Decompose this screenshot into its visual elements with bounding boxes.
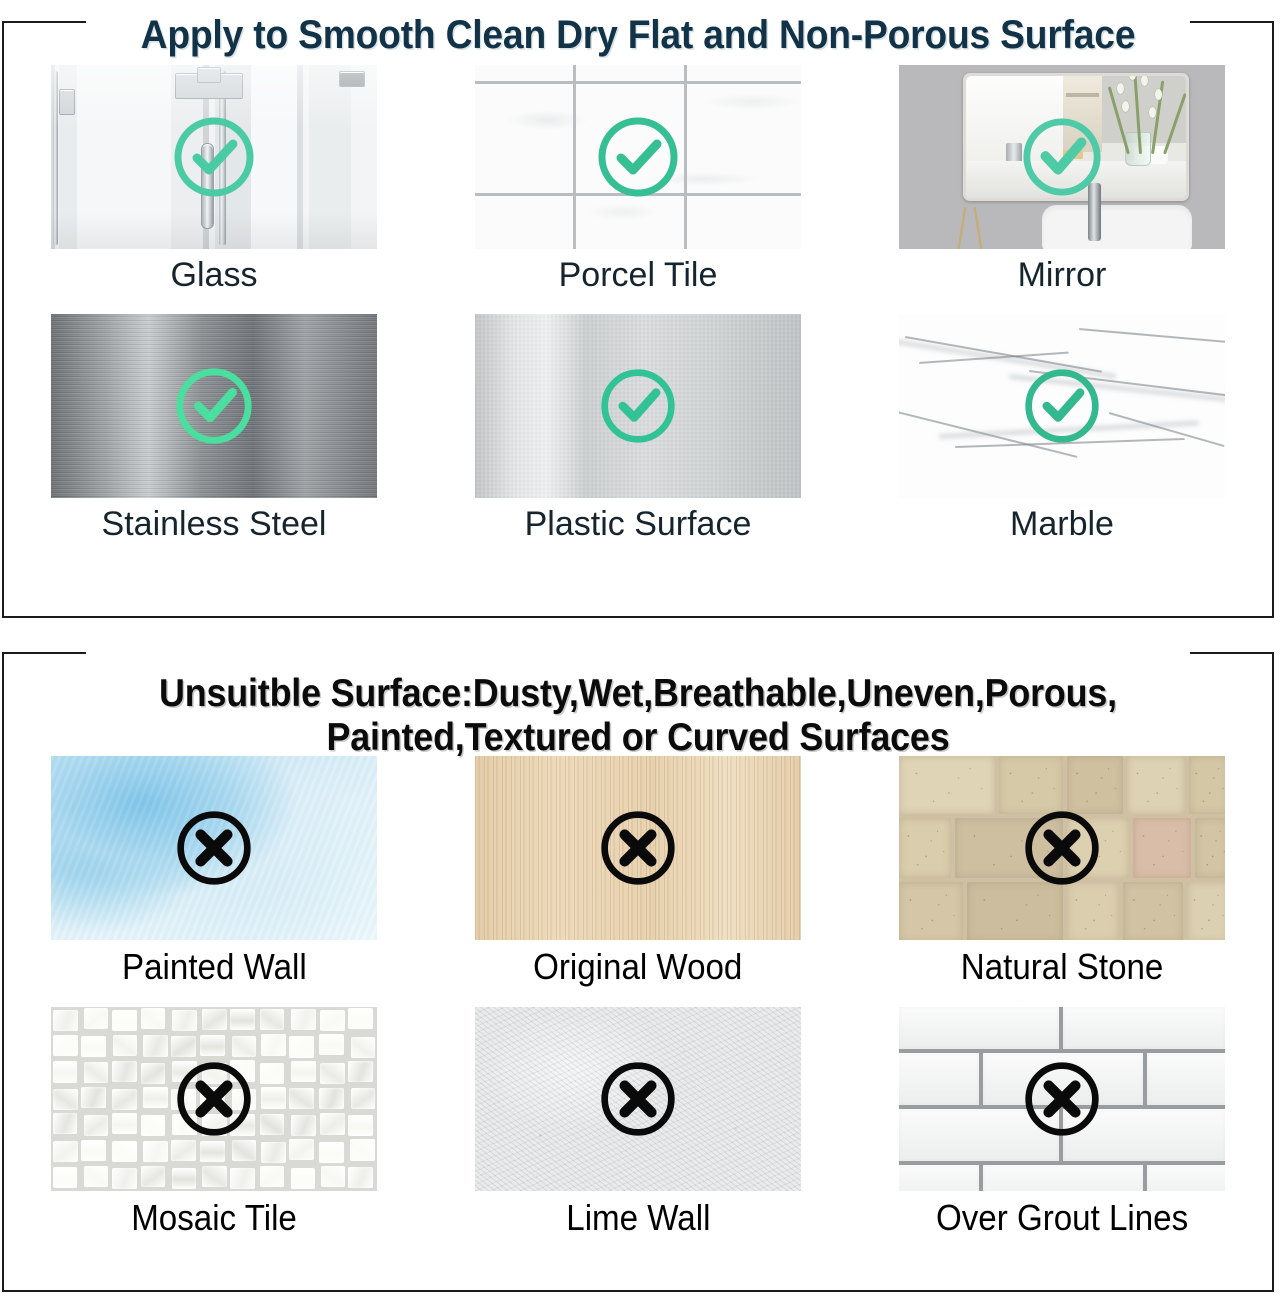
mosaic-tile-piece bbox=[81, 1036, 106, 1057]
mosaic-tile-piece bbox=[261, 1034, 286, 1055]
mosaic-tile-piece bbox=[319, 1034, 344, 1055]
surface-image-porcel-tile bbox=[475, 65, 801, 249]
mosaic-tile-piece bbox=[113, 1035, 138, 1056]
mosaic-tile-piece bbox=[202, 1009, 227, 1030]
surface-label-porcel-tile: Porcel Tile bbox=[559, 258, 718, 292]
mosaic-tile-piece bbox=[230, 1009, 255, 1030]
surface-cell-mosaic: Mosaic Tile bbox=[2, 1007, 426, 1236]
mosaic-tile-piece bbox=[53, 1141, 78, 1162]
surface-cell-marble: Marble bbox=[850, 314, 1274, 541]
mosaic-tile-piece bbox=[112, 1168, 137, 1189]
surface-cell-plastic: Plastic Surface bbox=[426, 314, 850, 541]
suitable-surfaces-panel: Apply to Smooth Clean Dry Flat and Non-P… bbox=[2, 21, 1274, 618]
surface-cell-porcel-tile: Porcel Tile bbox=[426, 65, 850, 292]
mosaic-tile-piece bbox=[232, 1036, 257, 1057]
unsuitable-surfaces-panel: Unsuitble Surface:Dusty,Wet,Breathable,U… bbox=[2, 652, 1274, 1292]
suitable-surfaces-grid: Glass Porcel Tile bbox=[2, 65, 1274, 541]
mosaic-tile-piece bbox=[143, 1087, 168, 1108]
mosaic-tile-piece bbox=[261, 1142, 286, 1163]
mosaic-tile-piece bbox=[348, 1115, 373, 1136]
surface-label-wood: Original Wood bbox=[533, 949, 742, 985]
unsuitable-panel-title: Unsuitble Surface:Dusty,Wet,Breathable,U… bbox=[53, 674, 1223, 758]
mosaic-tile-piece bbox=[200, 1141, 225, 1162]
x-circle-icon bbox=[598, 1059, 678, 1139]
mosaic-tile-piece bbox=[320, 1063, 345, 1084]
mosaic-tile-piece bbox=[84, 1008, 109, 1029]
mosaic-tile-piece bbox=[112, 1061, 137, 1082]
surface-label-painted-wall: Painted Wall bbox=[122, 949, 307, 985]
mosaic-tile-piece bbox=[112, 1141, 137, 1162]
mosaic-tile-piece bbox=[53, 1089, 78, 1110]
mosaic-tile-piece bbox=[171, 1140, 196, 1161]
mosaic-tile-piece bbox=[141, 1166, 166, 1187]
mosaic-tile-piece bbox=[291, 1115, 316, 1136]
surface-label-stainless-steel: Stainless Steel bbox=[102, 507, 327, 541]
x-circle-icon bbox=[174, 1059, 254, 1139]
mosaic-tile-piece bbox=[321, 1166, 346, 1187]
surface-label-marble: Marble bbox=[1010, 507, 1114, 541]
mosaic-tile-piece bbox=[289, 1139, 314, 1160]
mosaic-tile-piece bbox=[143, 1141, 168, 1162]
x-circle-icon bbox=[174, 808, 254, 888]
mosaic-tile-piece bbox=[348, 1008, 373, 1029]
mosaic-tile-piece bbox=[319, 1088, 344, 1109]
check-circle-icon bbox=[1021, 116, 1103, 198]
check-circle-icon bbox=[173, 365, 255, 447]
mosaic-tile-piece bbox=[53, 1113, 78, 1134]
surface-cell-painted-wall: Painted Wall bbox=[2, 756, 426, 985]
mosaic-tile-piece bbox=[260, 1166, 285, 1187]
surface-image-painted-wall bbox=[51, 756, 377, 940]
mosaic-tile-piece bbox=[232, 1140, 257, 1161]
mosaic-tile-piece bbox=[84, 1115, 109, 1136]
check-circle-icon bbox=[596, 115, 680, 199]
mosaic-tile-piece bbox=[143, 1035, 168, 1056]
surface-label-subway-tile: Over Grout Lines bbox=[936, 1200, 1188, 1236]
surface-cell-natural-stone: Natural Stone bbox=[850, 756, 1274, 985]
unsuitable-title-line-2: Painted,Textured or Curved Surfaces bbox=[53, 718, 1223, 758]
mosaic-tile-piece bbox=[320, 1010, 345, 1031]
mosaic-tile-piece bbox=[53, 1010, 78, 1031]
surface-cell-subway-tile: Over Grout Lines bbox=[850, 1007, 1274, 1236]
suitable-panel-title: Apply to Smooth Clean Dry Flat and Non-P… bbox=[47, 15, 1230, 56]
surface-image-lime-wall bbox=[475, 1007, 801, 1191]
surface-image-glass bbox=[51, 65, 377, 249]
mosaic-tile-piece bbox=[320, 1113, 345, 1134]
mosaic-tile-piece bbox=[260, 1063, 285, 1084]
surface-label-mosaic: Mosaic Tile bbox=[131, 1200, 297, 1236]
surface-label-glass: Glass bbox=[171, 258, 258, 292]
mosaic-tile-piece bbox=[291, 1061, 316, 1082]
mosaic-tile-piece bbox=[260, 1114, 285, 1135]
surface-cell-stainless-steel: Stainless Steel bbox=[2, 314, 426, 541]
mosaic-tile-piece bbox=[200, 1035, 225, 1056]
mosaic-tile-piece bbox=[171, 1036, 196, 1057]
mosaic-tile-piece bbox=[348, 1167, 373, 1188]
surface-image-subway-tile bbox=[899, 1007, 1225, 1191]
mosaic-tile-piece bbox=[172, 1168, 197, 1189]
surface-image-plastic bbox=[475, 314, 801, 498]
mosaic-tile-piece bbox=[112, 1113, 137, 1134]
mosaic-tile-piece bbox=[289, 1088, 314, 1109]
mosaic-tile-piece bbox=[84, 1166, 109, 1187]
x-circle-icon bbox=[1022, 1059, 1102, 1139]
mosaic-tile-piece bbox=[172, 1010, 197, 1031]
surface-image-marble bbox=[899, 314, 1225, 498]
mosaic-tile-piece bbox=[81, 1140, 106, 1161]
surface-cell-glass: Glass bbox=[2, 65, 426, 292]
mosaic-tile-piece bbox=[141, 1115, 166, 1136]
mosaic-tile-piece bbox=[81, 1087, 106, 1108]
mosaic-tile-piece bbox=[53, 1061, 78, 1082]
unsuitable-title-border-gap bbox=[86, 648, 1190, 657]
mosaic-tile-piece bbox=[84, 1062, 109, 1083]
infographic-page: Apply to Smooth Clean Dry Flat and Non-P… bbox=[0, 0, 1280, 1304]
surface-label-plastic: Plastic Surface bbox=[525, 507, 752, 541]
mosaic-tile-piece bbox=[351, 1037, 376, 1058]
mosaic-tile-piece bbox=[348, 1061, 373, 1082]
surface-label-mirror: Mirror bbox=[1018, 258, 1107, 292]
unsuitable-title-line-1: Unsuitble Surface:Dusty,Wet,Breathable,U… bbox=[159, 672, 1117, 715]
check-circle-icon bbox=[1022, 366, 1102, 446]
mosaic-tile-piece bbox=[141, 1063, 166, 1084]
surface-cell-wood: Original Wood bbox=[426, 756, 850, 985]
surface-label-natural-stone: Natural Stone bbox=[961, 949, 1164, 985]
mosaic-tile-piece bbox=[112, 1089, 137, 1110]
unsuitable-surfaces-grid: Painted Wall Original Wood bbox=[2, 756, 1274, 1236]
mosaic-tile-piece bbox=[291, 1168, 316, 1189]
check-circle-icon bbox=[598, 366, 678, 446]
mosaic-tile-piece bbox=[260, 1009, 285, 1030]
mosaic-tile-piece bbox=[350, 1139, 375, 1160]
mosaic-tile-piece bbox=[351, 1088, 376, 1109]
mosaic-tile-piece bbox=[141, 1008, 166, 1029]
mosaic-tile-piece bbox=[112, 1010, 137, 1031]
surface-image-mirror bbox=[899, 65, 1225, 249]
mosaic-tile-piece bbox=[53, 1167, 78, 1188]
surface-label-lime-wall: Lime Wall bbox=[566, 1200, 710, 1236]
surface-image-wood bbox=[475, 756, 801, 940]
mosaic-tile-piece bbox=[291, 1009, 316, 1030]
mosaic-tile-piece bbox=[230, 1168, 255, 1189]
check-circle-icon bbox=[172, 115, 256, 199]
x-circle-icon bbox=[1022, 808, 1102, 888]
surface-image-mosaic bbox=[51, 1007, 377, 1191]
x-circle-icon bbox=[598, 808, 678, 888]
surface-cell-lime-wall: Lime Wall bbox=[426, 1007, 850, 1236]
mosaic-tile-piece bbox=[202, 1166, 227, 1187]
surface-image-stainless-steel bbox=[51, 314, 377, 498]
mosaic-tile-piece bbox=[289, 1036, 314, 1057]
mosaic-tile-piece bbox=[261, 1087, 286, 1108]
surface-cell-mirror: Mirror bbox=[850, 65, 1274, 292]
mosaic-tile-piece bbox=[319, 1142, 344, 1163]
mosaic-tile-piece bbox=[53, 1035, 78, 1056]
surface-image-natural-stone bbox=[899, 756, 1225, 940]
